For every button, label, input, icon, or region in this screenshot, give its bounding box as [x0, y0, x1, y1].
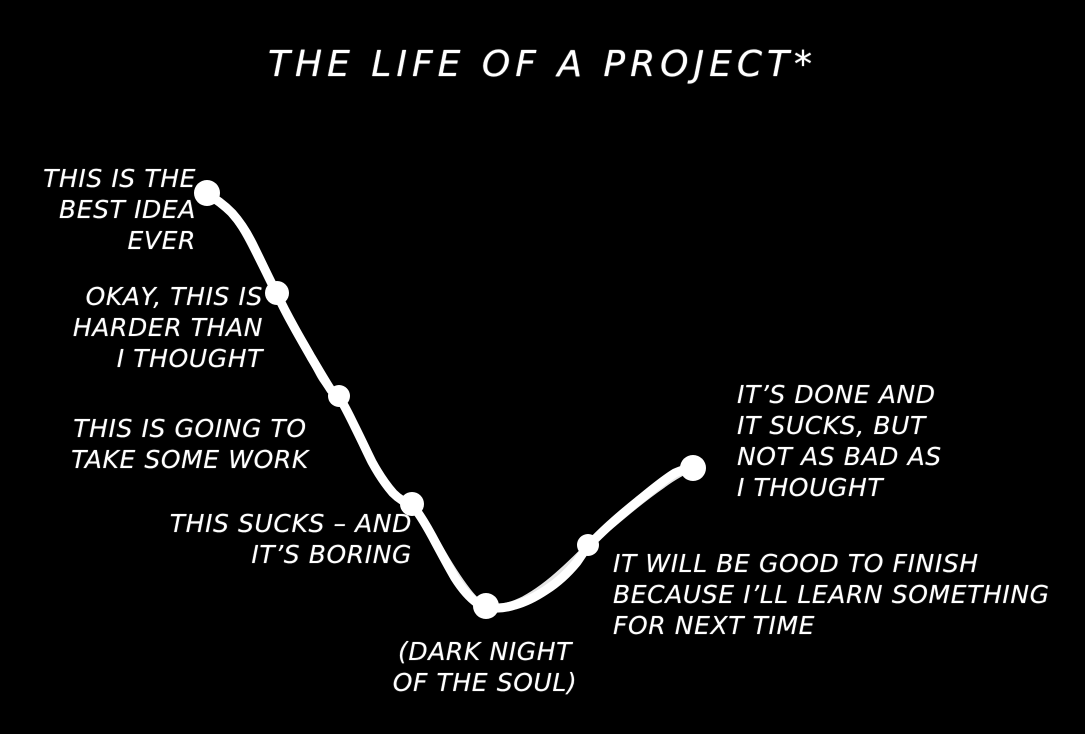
annotation-take-some-work: THIS IS GOING TO TAKE SOME WORK [40, 413, 340, 475]
data-point-marker [680, 455, 706, 481]
annotation-good-to-finish: IT WILL BE GOOD TO FINISH BECAUSE I’LL L… [613, 548, 1073, 641]
annotation-its-done-and-it-sucks: IT’S DONE AND IT SUCKS, BUT NOT AS BAD A… [737, 379, 1047, 503]
annotation-best-idea-ever: THIS IS THE BEST IDEA EVER [0, 163, 196, 256]
data-point-marker [194, 180, 220, 206]
annotation-this-sucks-boring: THIS SUCKS – AND IT’S BORING [90, 508, 412, 570]
data-point-marker [328, 385, 350, 407]
data-point-marker [265, 281, 289, 305]
annotation-dark-night-of-the-soul: (DARK NIGHT OF THE SOUL) [345, 636, 625, 698]
data-point-marker [577, 534, 599, 556]
chart-canvas: THE LIFE OF A PROJECT* THIS IS THE BEST … [0, 0, 1085, 734]
annotation-harder-than-thought: OKAY, THIS IS HARDER THAN I THOUGHT [0, 281, 263, 374]
data-point-marker [473, 593, 499, 619]
